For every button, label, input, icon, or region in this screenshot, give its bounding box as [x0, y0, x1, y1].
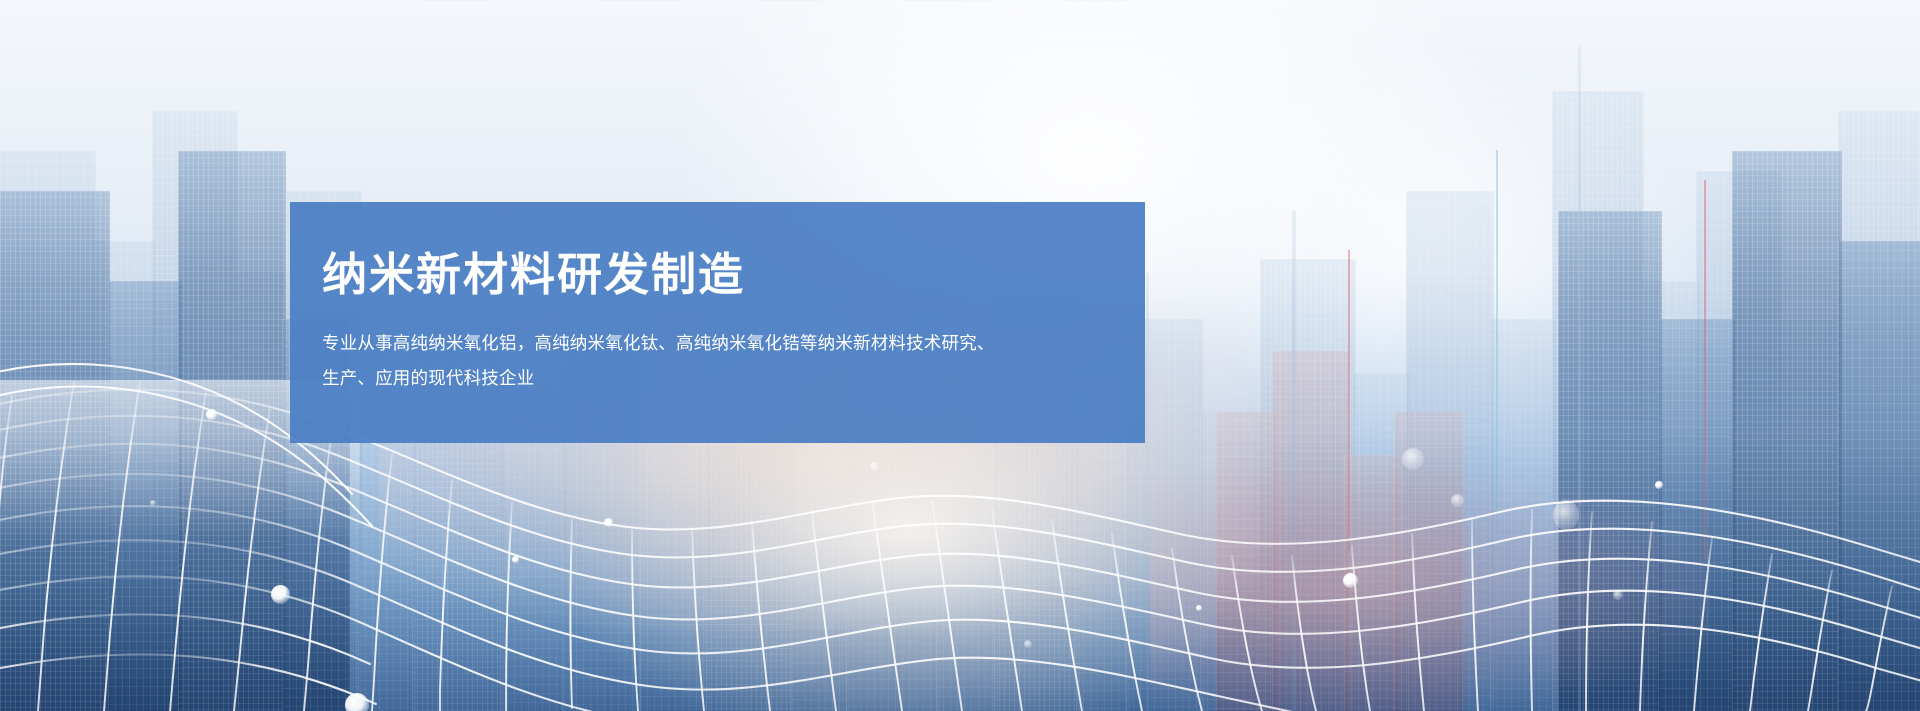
glow-particle: [1613, 590, 1623, 600]
glow-particle: [345, 693, 369, 711]
glow-particle: [206, 409, 217, 420]
glow-particle: [1196, 605, 1202, 611]
headline-panel-content: 纳米新材料研发制造 专业从事高纯纳米氧化铝，高纯纳米氧化钛、高纯纳米氧化锆等纳米…: [290, 202, 1145, 443]
subtitle-line-2: 生产、应用的现代科技企业: [322, 361, 1101, 396]
glow-particle: [1024, 640, 1032, 648]
page-subtitle: 专业从事高纯纳米氧化铝，高纯纳米氧化钛、高纯纳米氧化锆等纳米新材料技术研究、 生…: [322, 326, 1101, 396]
glow-particle: [604, 518, 613, 527]
subtitle-line-1: 专业从事高纯纳米氧化铝，高纯纳米氧化钛、高纯纳米氧化锆等纳米新材料技术研究、: [322, 326, 1101, 361]
hero-banner: 纳米新材料研发制造 专业从事高纯纳米氧化铝，高纯纳米氧化钛、高纯纳米氧化锆等纳米…: [0, 0, 1920, 711]
glow-particle: [150, 500, 156, 506]
glow-particle: [271, 585, 290, 604]
glow-particle: [1402, 448, 1424, 470]
glow-particle: [870, 462, 879, 471]
page-title: 纳米新材料研发制造: [322, 250, 1101, 300]
glow-particle: [1553, 500, 1579, 530]
glow-particle: [1343, 573, 1358, 588]
glow-particle: [1655, 481, 1663, 489]
glow-particle: [512, 556, 519, 563]
glow-particle: [1451, 494, 1464, 507]
